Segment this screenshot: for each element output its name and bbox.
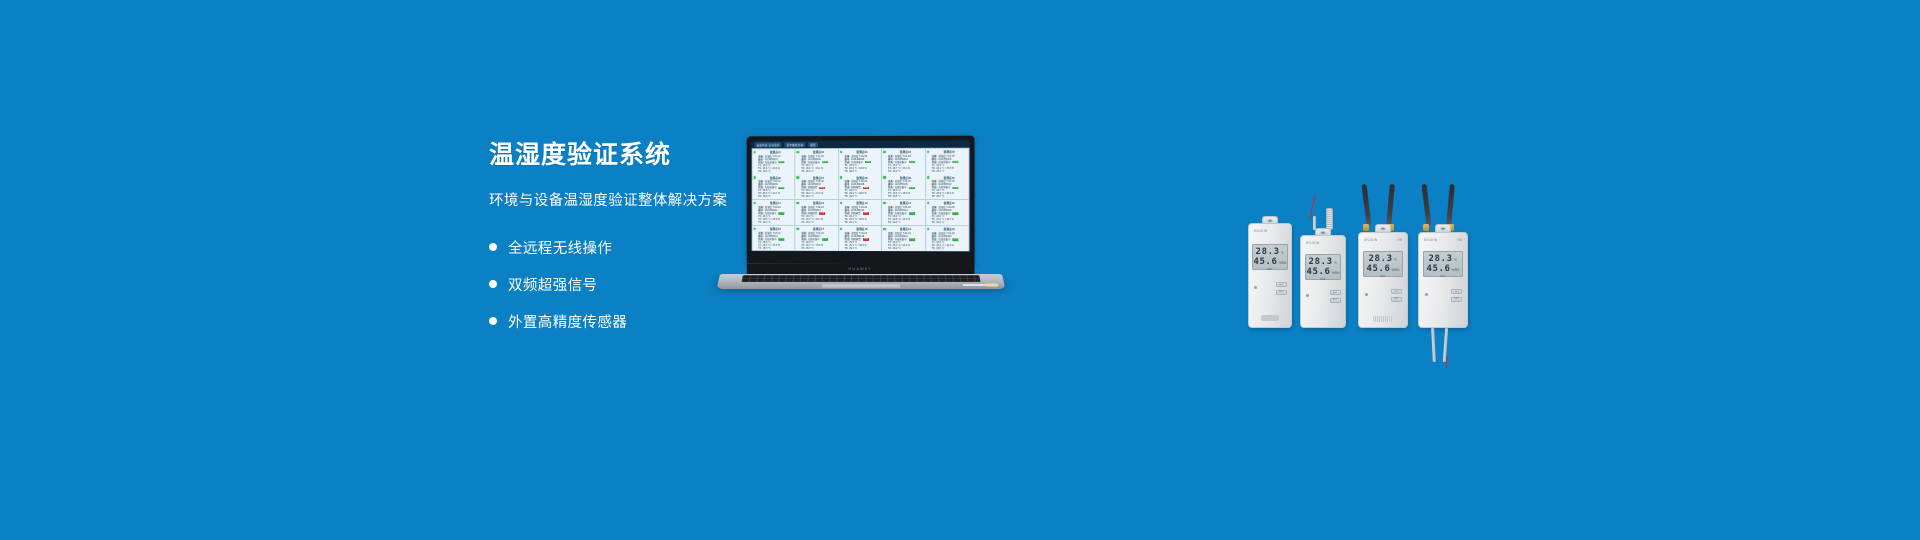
card-title: 监测点03 <box>845 150 880 154</box>
lcd-humidity-value: 45.6 <box>1426 264 1450 274</box>
status-led-icon <box>1425 293 1428 296</box>
card-status-led-icon <box>754 228 756 230</box>
card-field-key: T3: <box>932 170 936 173</box>
tab-history-query[interactable]: 历史数据查询 <box>785 142 806 147</box>
device-badge-label: H8 <box>1457 238 1462 242</box>
card-field-key: T3: <box>888 195 892 198</box>
device-brand-row: ENJOIN <box>1254 229 1286 233</box>
card-field: T3:29.2 ℃ <box>845 221 880 224</box>
device-brand-row: ENJOIN <box>1306 241 1340 245</box>
card-title: 监测点01 <box>758 150 793 154</box>
card-field-key: T3: <box>845 195 849 198</box>
card-field-key: T3: <box>801 221 805 224</box>
lcd-humidity-unit: %RH <box>1392 268 1400 272</box>
laptop-lid: 设备列表 实时监控 历史数据查询 报警 监测点01设备:温湿度 T-01-01编… <box>747 136 975 265</box>
lcd-rec-indicator: REC <box>1309 278 1338 281</box>
device-logger-probe: ENJOIN 28.3 ℃ 45.6 %RH REC SET REC <box>1300 194 1346 328</box>
laptop-brand-chin: HUAWEI <box>747 264 975 274</box>
card-field-value: 29.0 ℃ <box>849 195 857 198</box>
monitor-card[interactable]: 监测点11设备:温湿度 T-03-01编号:1123456011状态:在线采集中… <box>752 200 794 225</box>
device-lcd-display: 28.3 ℃ 45.6 %RH REC <box>1363 251 1403 277</box>
card-title: 监测点20 <box>932 227 967 231</box>
antenna-icon <box>1421 184 1431 226</box>
status-led-icon <box>1365 293 1368 296</box>
status-led-icon <box>1306 294 1309 297</box>
card-status-led-icon <box>840 228 842 230</box>
card-title: 监测点19 <box>888 227 923 231</box>
monitor-card[interactable]: 监测点09设备:温湿度 T-02-04编号:1123456009状态:在线采集中… <box>882 174 925 199</box>
card-title: 监测点17 <box>801 227 836 231</box>
card-field-key: T3: <box>758 221 762 224</box>
card-field-value: 28.0 ℃ <box>806 170 814 173</box>
card-status-led-icon <box>797 176 799 178</box>
card-field: T3:29.4 ℃ <box>845 247 880 250</box>
device-brand-row: ENJOIN H8 <box>1364 238 1402 242</box>
card-field: T3:28.4 ℃ <box>932 170 967 173</box>
lcd-temperature-unit: ℃ <box>1394 258 1398 262</box>
card-field-value: 28.2 ℃ <box>893 170 901 173</box>
card-field-value: 28.3 ℃ <box>763 170 771 173</box>
card-title: 监测点16 <box>758 227 793 231</box>
card-field-value: 28.5 ℃ <box>893 195 901 198</box>
monitor-card[interactable]: 监测点01设备:温湿度 T-01-01编号:1123456001状态:在线采集中… <box>752 149 794 174</box>
lcd-temperature-value: 28.3 <box>1369 254 1393 264</box>
card-status-led-icon <box>883 202 885 204</box>
status-badge: 正常 <box>952 212 958 215</box>
monitor-card[interactable]: 监测点10设备:温湿度 T-02-05编号:1123456010状态:在线采集中… <box>926 174 969 199</box>
card-field: T3:28.9 ℃ <box>801 247 836 250</box>
card-field-value: 28.7 ℃ <box>936 195 944 198</box>
feature-label: 双频超强信号 <box>508 274 597 295</box>
device-button-group[interactable]: SET REC <box>1276 282 1287 295</box>
card-status-led-icon <box>883 176 885 178</box>
lcd-humidity-unit: %RH <box>1332 271 1340 275</box>
card-status-led-icon <box>883 228 885 230</box>
card-title: 监测点13 <box>845 201 880 205</box>
card-field: T3:29.1 ℃ <box>801 195 836 198</box>
card-status-led-icon <box>927 176 929 178</box>
device-vent <box>1373 316 1392 322</box>
card-status-led-icon <box>754 176 756 178</box>
card-title: 监测点05 <box>932 150 967 154</box>
antenna-connector <box>1423 224 1429 231</box>
card-title: 监测点12 <box>801 201 836 205</box>
device-brand-row: ENJOIN H8 <box>1424 238 1462 242</box>
set-button[interactable]: SET <box>1451 289 1462 294</box>
monitor-card[interactable]: 监测点03设备:温湿度 T-01-03编号:1123456003状态:在线采集中… <box>839 149 882 174</box>
card-field-value: 28.6 ℃ <box>849 170 857 173</box>
card-field-value: 28.6 ℃ <box>763 247 771 250</box>
lcd-humidity-unit: %RH <box>1279 261 1287 265</box>
device-body: ENJOIN 28.3 ℃ 45.6 %RH REC SET REC <box>1300 235 1346 328</box>
card-status-led-icon <box>927 150 929 152</box>
bullet-dot-icon <box>489 243 497 251</box>
card-title: 监测点18 <box>845 227 880 231</box>
rec-button[interactable]: REC <box>1276 290 1287 295</box>
antenna-icon <box>1446 184 1455 226</box>
laptop-product-image: 设备列表 实时监控 历史数据查询 报警 监测点01设备:温湿度 T-01-01编… <box>700 136 1010 304</box>
device-model-label: ENJOIN <box>1254 229 1268 233</box>
lcd-rec-indicator: REC <box>1256 268 1283 271</box>
app-bottom-toolbar: 刷新 导出数据 参数设置 首12末 退出系统 <box>752 251 970 252</box>
card-field-value: 28.0 ℃ <box>936 221 944 224</box>
card-field: T3:28.2 ℃ <box>888 247 923 250</box>
status-badge: 正常 <box>779 187 785 190</box>
card-title: 监测点02 <box>801 150 836 154</box>
card-field: T3:28.0 ℃ <box>801 170 836 173</box>
device-model-label: ENJOIN <box>1364 238 1378 242</box>
feature-label: 外置高精度传感器 <box>508 311 627 332</box>
monitor-card[interactable]: 监测点20设备:温湿度 T-04-05编号:1123456020状态:在线采集中… <box>926 226 969 251</box>
monitor-card[interactable]: 监测点04设备:温湿度 T-01-04编号:1123456004状态:在线采集中… <box>882 148 925 173</box>
status-badge: 正常 <box>909 187 915 190</box>
status-badge: 正常 <box>909 238 915 241</box>
lcd-temperature-unit: ℃ <box>1334 261 1338 265</box>
device-model-label: ENJOIN <box>1424 238 1438 242</box>
device-logger-basic: ENJOIN 28.3 ℃ 45.6 %RH REC SET REC <box>1248 216 1292 328</box>
card-field-key: T3: <box>845 170 849 173</box>
status-badge: 正常 <box>952 186 958 189</box>
lcd-temperature-unit: ℃ <box>1454 258 1458 262</box>
monitor-card[interactable]: 监测点19设备:温湿度 T-04-04编号:1123456019状态:在线采集中… <box>882 226 925 251</box>
card-field: T3:28.6 ℃ <box>845 170 880 173</box>
list-item: 外置高精度传感器 <box>489 311 819 332</box>
lcd-humidity-value: 45.6 <box>1254 257 1278 267</box>
monitor-card[interactable]: 监测点15设备:温湿度 T-03-05编号:1123456015状态:在线采集中… <box>926 200 969 225</box>
device-lcd-display: 28.3 ℃ 45.6 %RH REC <box>1423 251 1463 277</box>
card-field-value: 29.2 ℃ <box>849 221 857 224</box>
card-status-led-icon <box>927 202 929 204</box>
set-button[interactable]: SET <box>1330 290 1341 295</box>
set-button[interactable]: SET <box>1276 282 1287 287</box>
card-title: 监测点11 <box>758 201 793 205</box>
status-badge: 报警 <box>863 187 869 190</box>
monitor-card[interactable]: 监测点13设备:温湿度 T-03-03编号:1123456013状态:超限报警报… <box>839 200 882 225</box>
card-field: T3:28.4 ℃ <box>888 221 923 224</box>
card-title: 监测点14 <box>888 201 923 205</box>
probe-rod <box>1431 328 1436 362</box>
card-status-led-icon <box>927 228 929 230</box>
card-field: T3:28.8 ℃ <box>758 195 793 198</box>
card-field-key: T3: <box>888 247 892 250</box>
card-field-key: T3: <box>845 247 849 250</box>
monitor-card[interactable]: 监测点12设备:温湿度 T-03-02编号:1123456012状态:超限报警报… <box>795 200 838 225</box>
lcd-rec-indicator: REC <box>1367 275 1399 278</box>
feature-label: 全远程无线操作 <box>508 237 612 258</box>
status-badge: 报警 <box>819 212 825 215</box>
device-body: ENJOIN H8 28.3 ℃ 45.6 %RH REC SET REC <box>1358 232 1408 328</box>
card-field-value: 28.4 ℃ <box>893 221 901 224</box>
device-logger-dual-antenna-b: ENJOIN H8 28.3 ℃ 45.6 %RH REC SET REC <box>1418 184 1468 328</box>
monitor-card[interactable]: 监测点14设备:温湿度 T-03-04编号:1123456014状态:在线采集中… <box>882 200 925 225</box>
card-status-led-icon <box>797 202 799 204</box>
card-field: T3:28.5 ℃ <box>932 247 967 250</box>
status-badge: 正常 <box>952 238 958 241</box>
monitor-card[interactable]: 监测点06设备:温湿度 T-02-01编号:1123456006状态:在线采集中… <box>752 174 794 199</box>
status-badge: 报警 <box>863 212 869 215</box>
device-button-group[interactable]: SET REC <box>1391 289 1402 302</box>
device-badge-label: H8 <box>1397 238 1402 242</box>
card-field: T3:28.0 ℃ <box>932 221 967 224</box>
probe-sensor-tip <box>1326 208 1333 230</box>
tab-device-monitor[interactable]: 设备列表 实时监控 <box>755 142 782 147</box>
card-field-key: T3: <box>801 170 805 173</box>
card-field-key: T3: <box>888 221 892 224</box>
card-field: T3:29.3 ℃ <box>801 221 836 224</box>
laptop-keyboard[interactable] <box>741 275 981 282</box>
status-badge: 正常 <box>779 212 785 215</box>
card-field-value: 28.9 ℃ <box>806 247 814 250</box>
laptop-gold-sticker <box>984 284 999 287</box>
lcd-temperature-value: 28.3 <box>1256 247 1280 257</box>
card-field-key: T3: <box>801 195 805 198</box>
card-title: 监测点04 <box>888 150 923 154</box>
lcd-humidity-value: 45.6 <box>1307 267 1331 277</box>
lcd-humidity-unit: %RH <box>1452 268 1460 272</box>
card-field: T3:28.6 ℃ <box>758 247 793 250</box>
rec-button[interactable]: REC <box>1451 297 1462 302</box>
antenna-icon <box>1361 184 1371 226</box>
laptop-trackpad[interactable] <box>821 283 902 287</box>
status-badge: 正常 <box>909 212 915 215</box>
laptop-brand-label: HUAWEI <box>848 267 871 271</box>
status-badge: 报警 <box>863 238 869 241</box>
card-status-led-icon <box>797 228 799 230</box>
monitor-card[interactable]: 监测点08设备:温湿度 T-02-03编号:1123456008状态:超限报警报… <box>839 174 882 199</box>
card-field-key: T3: <box>845 221 849 224</box>
lcd-humidity-value: 45.6 <box>1366 264 1390 274</box>
lcd-temperature-value: 28.3 <box>1429 254 1453 264</box>
card-field: T3:29.0 ℃ <box>845 195 880 198</box>
monitor-card[interactable]: 监测点02设备:温湿度 T-01-02编号:1123456002状态:在线采集中… <box>795 149 838 174</box>
status-badge: 正常 <box>822 238 828 241</box>
card-field-value: 28.8 ℃ <box>763 195 771 198</box>
card-status-led-icon <box>840 202 842 204</box>
card-field-value: 28.2 ℃ <box>893 247 901 250</box>
card-field-key: T3: <box>932 195 936 198</box>
card-field-value: 28.5 ℃ <box>936 247 944 250</box>
monitor-card[interactable]: 监测点05设备:温湿度 T-01-05编号:1123456005状态:在线采集中… <box>926 148 969 173</box>
monitor-card[interactable]: 监测点17设备:温湿度 T-04-02编号:1123456017状态:在线采集中… <box>795 226 838 251</box>
status-badge: 报警 <box>819 187 825 190</box>
device-logger-dual-antenna-a: ENJOIN H8 28.3 ℃ 45.6 %RH REC SET REC <box>1358 184 1408 328</box>
card-status-led-icon <box>883 151 885 153</box>
card-field: T3:28.3 ℃ <box>758 221 793 224</box>
card-title: 监测点15 <box>932 201 967 205</box>
device-body: ENJOIN 28.3 ℃ 45.6 %RH REC SET REC <box>1248 223 1292 328</box>
lcd-temperature-value: 28.3 <box>1309 257 1333 267</box>
laptop-screen: 设备列表 实时监控 历史数据查询 报警 监测点01设备:温湿度 T-01-01编… <box>751 140 971 253</box>
tab-alarms[interactable]: 报警 <box>808 142 818 147</box>
antenna-icon <box>1386 184 1395 226</box>
lcd-temperature-unit: ℃ <box>1281 251 1285 255</box>
device-lcd-display: 28.3 ℃ 45.6 %RH REC <box>1252 244 1287 270</box>
probe-wire <box>1446 356 1447 368</box>
antenna-connector <box>1363 224 1369 231</box>
card-field-key: T3: <box>932 221 936 224</box>
rec-button[interactable]: REC <box>1391 297 1402 302</box>
monitor-card[interactable]: 监测点07设备:温湿度 T-02-02编号:1123456007状态:超限报警报… <box>795 174 838 199</box>
rec-button[interactable]: REC <box>1330 298 1341 303</box>
monitor-card[interactable]: 监测点18设备:温湿度 T-04-03编号:1123456018状态:超限报警报… <box>839 226 882 251</box>
card-status-led-icon <box>840 176 842 178</box>
bullet-dot-icon <box>489 317 497 325</box>
device-vent <box>1262 315 1279 321</box>
card-field-key: T3: <box>888 170 892 173</box>
card-field: T3:28.3 ℃ <box>758 170 793 173</box>
card-field-value: 28.3 ℃ <box>763 221 771 224</box>
card-status-led-icon <box>754 151 756 153</box>
product-banner: 温湿度验证系统 环境与设备温湿度验证整体解决方案 全远程无线操作 双频超强信号 … <box>0 0 1920 540</box>
card-field-key: T3: <box>932 247 936 250</box>
device-button-group[interactable]: SET REC <box>1451 289 1462 302</box>
card-status-led-icon <box>754 202 756 204</box>
laptop-base <box>717 274 1006 289</box>
card-field: T3:28.2 ℃ <box>888 170 923 173</box>
device-body: ENJOIN H8 28.3 ℃ 45.6 %RH REC SET REC <box>1418 232 1468 328</box>
device-model-label: ENJOIN <box>1306 241 1320 245</box>
bullet-dot-icon <box>489 280 497 288</box>
card-field-key: T3: <box>801 247 805 250</box>
card-status-led-icon <box>840 151 842 153</box>
card-field: T3:28.7 ℃ <box>932 195 967 198</box>
card-field-value: 29.1 ℃ <box>806 195 814 198</box>
device-button-group[interactable]: SET REC <box>1330 290 1341 303</box>
card-field-key: T3: <box>758 247 762 250</box>
card-field: T3:28.5 ℃ <box>888 195 923 198</box>
monitor-card-grid: 监测点01设备:温湿度 T-01-01编号:1123456001状态:在线采集中… <box>752 148 970 252</box>
card-field-key: T3: <box>758 170 762 173</box>
set-button[interactable]: SET <box>1391 289 1402 294</box>
card-field-key: T3: <box>758 195 762 198</box>
card-field-value: 29.4 ℃ <box>849 247 857 250</box>
status-led-icon <box>1254 286 1257 289</box>
lcd-rec-indicator: REC <box>1427 275 1459 278</box>
card-field-value: 28.4 ℃ <box>936 170 944 173</box>
card-field-value: 29.3 ℃ <box>806 221 814 224</box>
monitor-card[interactable]: 监测点16设备:温湿度 T-04-01编号:1123456016状态:在线采集中… <box>752 226 794 251</box>
card-status-led-icon <box>797 151 799 153</box>
device-lcd-display: 28.3 ℃ 45.6 %RH REC <box>1305 254 1342 280</box>
status-badge: 正常 <box>779 238 785 241</box>
